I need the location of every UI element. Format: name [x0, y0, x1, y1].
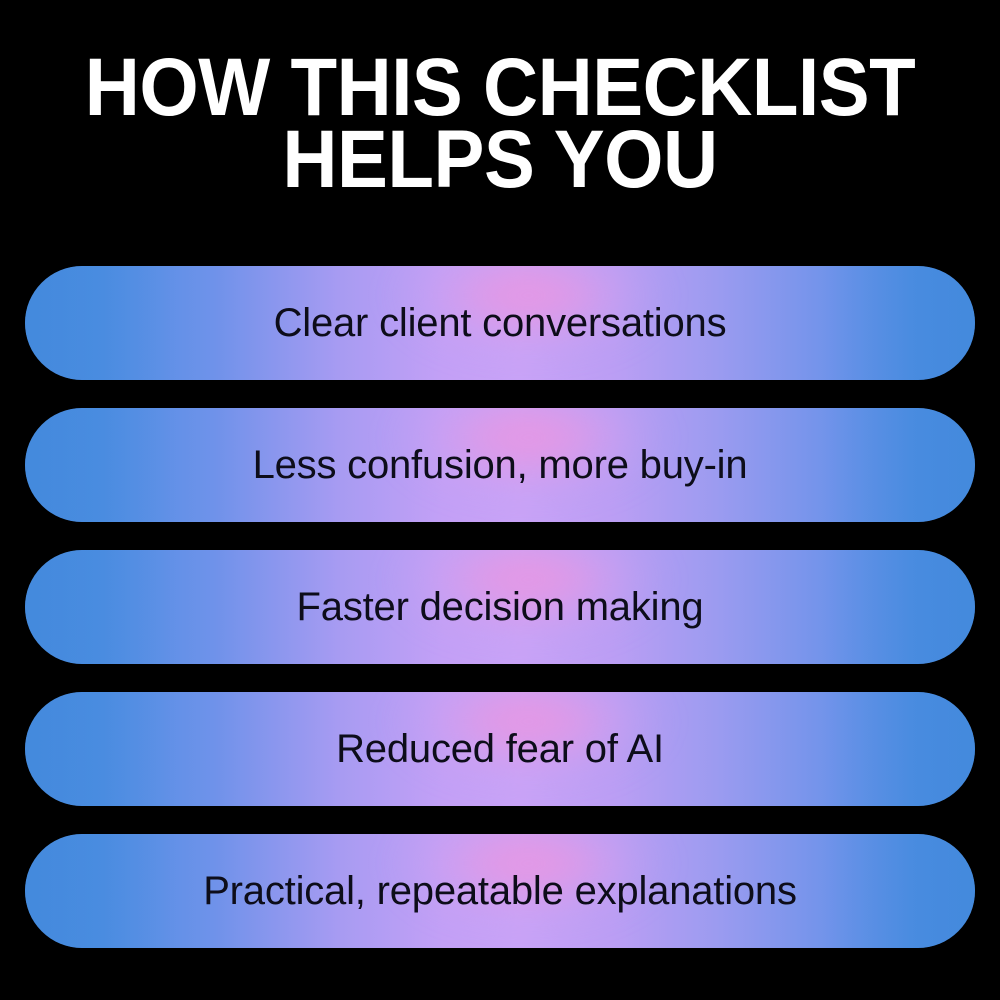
benefit-pill-label: Clear client conversations — [25, 266, 975, 380]
benefit-pill-list: Clear client conversations Less confusio… — [25, 266, 975, 976]
benefit-pill-label: Reduced fear of AI — [25, 692, 975, 806]
page-title-line-2: HELPS YOU — [35, 124, 965, 196]
benefit-pill: Less confusion, more buy-in — [25, 408, 975, 522]
benefit-pill: Practical, repeatable explanations — [25, 834, 975, 948]
benefit-pill: Faster decision making — [25, 550, 975, 664]
benefit-pill-label: Faster decision making — [25, 550, 975, 664]
benefit-pill: Reduced fear of AI — [25, 692, 975, 806]
benefit-pill: Clear client conversations — [25, 266, 975, 380]
benefit-pill-label: Less confusion, more buy-in — [25, 408, 975, 522]
benefit-pill-label: Practical, repeatable explanations — [25, 834, 975, 948]
page-title: HOW THIS CHECKLIST HELPS YOU — [35, 52, 965, 196]
poster-canvas: HOW THIS CHECKLIST HELPS YOU Clear clien… — [0, 0, 1000, 1000]
